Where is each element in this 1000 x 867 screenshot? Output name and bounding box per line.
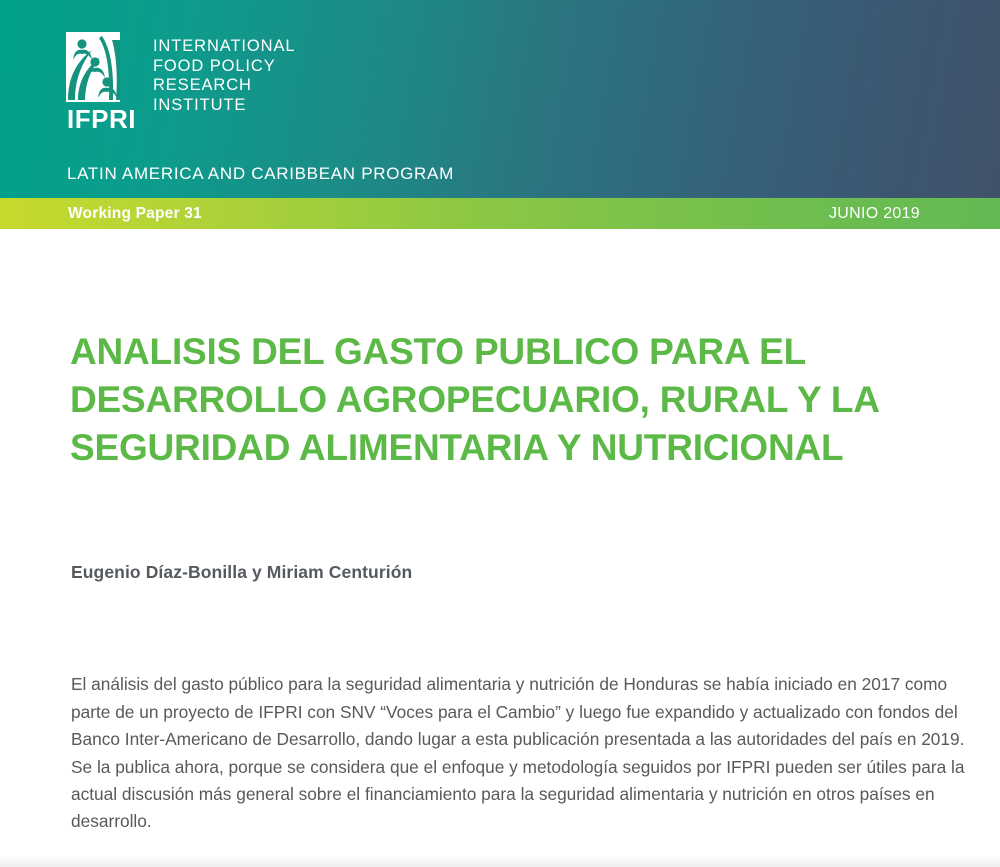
page-title: ANALISIS DEL GASTO PUBLICO PARA EL DESAR… [70, 328, 930, 472]
author-list: Eugenio Díaz-Bonilla y Miriam Centurión [71, 562, 412, 583]
header-banner: IFPRI INTERNATIONAL FOOD POLICY RESEARCH… [0, 0, 1000, 198]
ifpri-logo-lockup: IFPRI INTERNATIONAL FOOD POLICY RESEARCH… [66, 32, 295, 132]
document-cover-page: IFPRI INTERNATIONAL FOOD POLICY RESEARCH… [0, 0, 1000, 867]
logo-name-line-4: INSTITUTE [153, 96, 296, 116]
page-bottom-edge [0, 856, 1000, 867]
logo-name-line-2: FOOD POLICY [153, 57, 296, 77]
logo-name-line-3: RESEARCH [153, 76, 296, 96]
cover-body: ANALISIS DEL GASTO PUBLICO PARA EL DESAR… [0, 229, 1000, 867]
series-banner: Working Paper 31 JUNIO 2019 [0, 198, 1000, 229]
publication-date: JUNIO 2019 [829, 198, 920, 229]
working-paper-number: Working Paper 31 [68, 198, 202, 229]
logo-name-line-1: INTERNATIONAL [153, 37, 296, 57]
ifpri-wordmark: IFPRI [67, 106, 136, 132]
program-name: LATIN AMERICA AND CARIBBEAN PROGRAM [67, 164, 454, 184]
logo-mark-group: IFPRI [66, 32, 136, 132]
ifpri-full-name: INTERNATIONAL FOOD POLICY RESEARCH INSTI… [153, 37, 296, 115]
abstract-paragraph: El análisis del gasto público para la se… [71, 671, 979, 835]
ifpri-plant-people-logo-icon [66, 32, 120, 102]
